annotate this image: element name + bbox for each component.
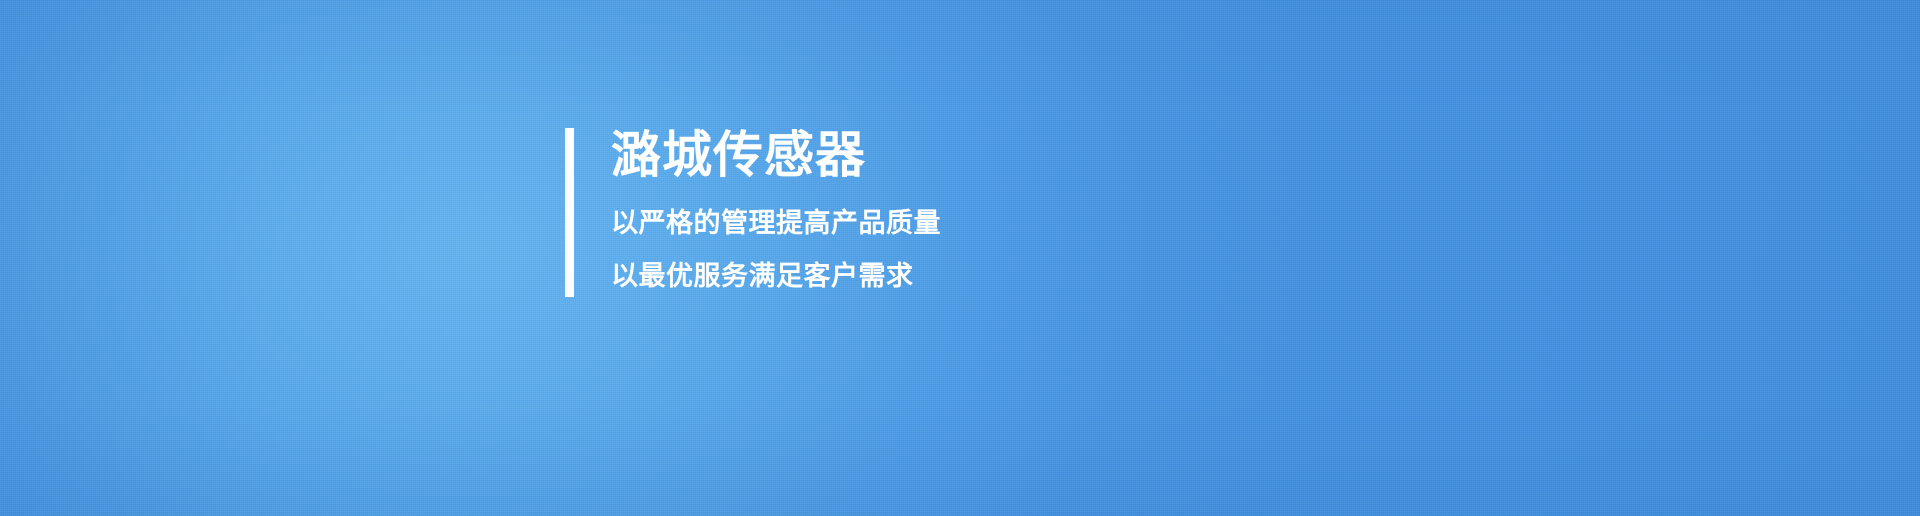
- banner-subtitle-line-2: 以最优服务满足客户需求: [611, 263, 941, 290]
- hero-banner: 潞城传感器 以严格的管理提高产品质量 以最优服务满足客户需求: [0, 0, 1920, 516]
- banner-subtitle-line-1: 以严格的管理提高产品质量: [611, 210, 941, 237]
- hero-content: 潞城传感器 以严格的管理提高产品质量 以最优服务满足客户需求: [565, 128, 941, 297]
- banner-title: 潞城传感器: [611, 130, 941, 180]
- hero-text-block: 潞城传感器 以严格的管理提高产品质量 以最优服务满足客户需求: [611, 128, 941, 290]
- vertical-accent-bar: [565, 128, 574, 297]
- background-vignette: [0, 0, 1920, 516]
